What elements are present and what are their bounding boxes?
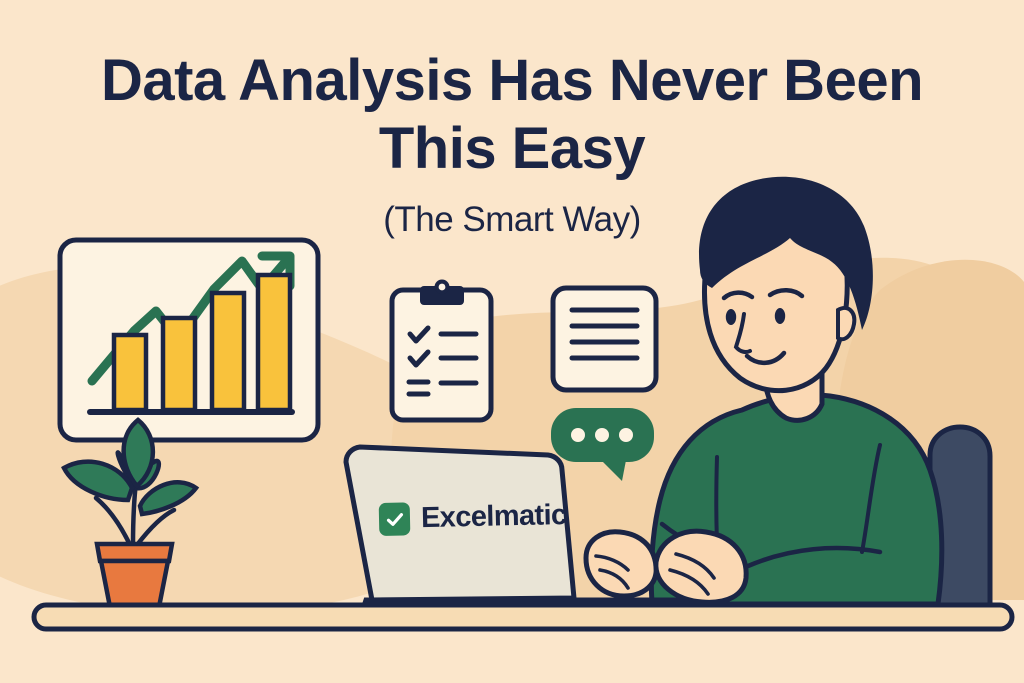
chat-dot-3 xyxy=(619,428,633,442)
bar-chart-card[interactable] xyxy=(60,240,318,440)
laptop-brand[interactable]: Excelmatic xyxy=(379,499,567,536)
check-icon xyxy=(384,509,404,529)
clipboard-body xyxy=(392,290,491,420)
chart-bar-2 xyxy=(163,318,195,410)
plant-pot-body xyxy=(101,561,168,607)
check-badge-icon xyxy=(379,502,411,536)
desk xyxy=(34,605,1012,629)
headline-line-2: This Easy xyxy=(0,118,1024,180)
clipboard-checklist[interactable] xyxy=(392,280,491,421)
plant-leaf-center-shape xyxy=(124,420,153,486)
chat-dot-2 xyxy=(595,428,609,442)
chart-bar-3 xyxy=(212,293,244,410)
person-eye-right xyxy=(775,308,785,324)
document-lines-card[interactable] xyxy=(553,288,656,390)
person-ear xyxy=(838,308,854,339)
document-frame xyxy=(553,288,656,390)
person-eye-left xyxy=(726,309,736,325)
chat-dot-1 xyxy=(571,428,585,442)
chart-bar-1 xyxy=(114,335,146,410)
clipboard-clip-hole-inner xyxy=(439,284,446,291)
chart-bar-4 xyxy=(258,275,290,410)
laptop-brand-name: Excelmatic xyxy=(421,499,567,535)
headline-subtitle: (The Smart Way) xyxy=(0,200,1024,240)
desk-surface xyxy=(34,605,1012,629)
plant-pot-rim xyxy=(97,544,172,561)
headline-line-1: Data Analysis Has Never Been xyxy=(0,50,1024,112)
